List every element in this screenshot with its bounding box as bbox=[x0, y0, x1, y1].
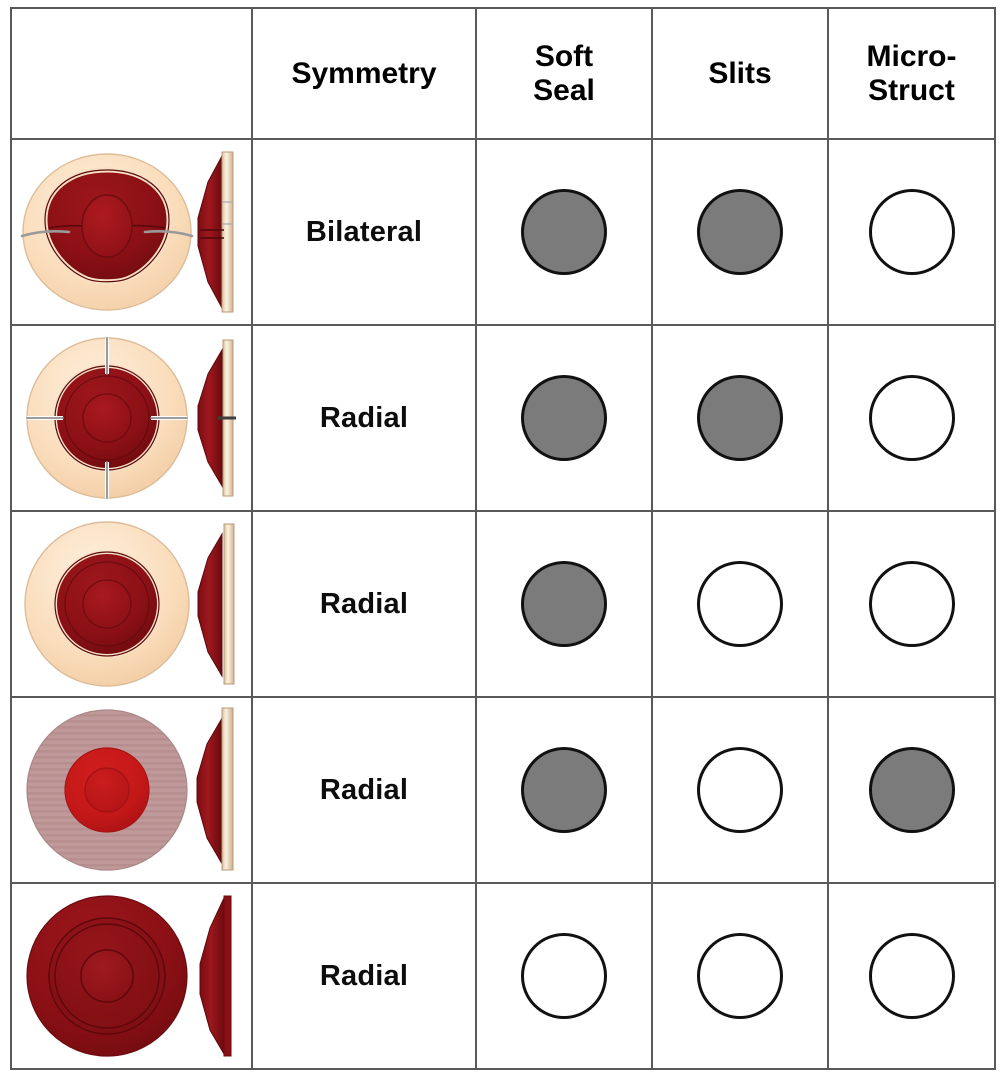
device-side-view-5 bbox=[192, 890, 240, 1062]
micro-struct-indicator-row4 bbox=[828, 697, 995, 883]
device-side-view-4 bbox=[192, 704, 240, 876]
soft-seal-indicator-row2 bbox=[476, 325, 652, 511]
micro-struct-line2: Struct bbox=[868, 74, 955, 107]
micro-struct-indicator-row3 bbox=[828, 511, 995, 697]
slits-indicator-row5 bbox=[652, 883, 828, 1069]
status-dot-filled bbox=[521, 561, 607, 647]
device-side-view-2 bbox=[192, 332, 240, 504]
device-illustration-cell-2 bbox=[11, 325, 252, 511]
status-dot-filled bbox=[869, 747, 955, 833]
table-row: Radial bbox=[11, 697, 995, 883]
slits-indicator-row1 bbox=[652, 139, 828, 325]
micro-struct-indicator-row1 bbox=[828, 139, 995, 325]
soft-seal-indicator-row1 bbox=[476, 139, 652, 325]
status-dot-empty bbox=[697, 747, 783, 833]
table-row: Radial bbox=[11, 511, 995, 697]
device-side-view-3 bbox=[192, 518, 240, 690]
device-top-view-4 bbox=[19, 702, 195, 878]
column-header-micro-struct: Micro- Struct bbox=[828, 8, 995, 139]
device-illustration-cell-1 bbox=[11, 139, 252, 325]
device-top-view-3 bbox=[19, 516, 195, 692]
slits-indicator-row3 bbox=[652, 511, 828, 697]
status-dot-filled bbox=[697, 189, 783, 275]
status-dot-empty bbox=[521, 933, 607, 1019]
slits-indicator-row4 bbox=[652, 697, 828, 883]
status-dot-empty bbox=[869, 375, 955, 461]
status-dot-empty bbox=[697, 933, 783, 1019]
feature-matrix-table: Symmetry Soft Seal Slits Micro- Struct bbox=[10, 7, 996, 1070]
soft-seal-line1: Soft bbox=[535, 40, 593, 73]
device-side-view-1 bbox=[192, 146, 240, 318]
column-header-symmetry: Symmetry bbox=[252, 8, 476, 139]
status-dot-filled bbox=[521, 747, 607, 833]
symmetry-value: Bilateral bbox=[252, 139, 476, 325]
column-header-soft-seal: Soft Seal bbox=[476, 8, 652, 139]
symmetry-value: Radial bbox=[252, 883, 476, 1069]
status-dot-empty bbox=[697, 561, 783, 647]
slits-indicator-row2 bbox=[652, 325, 828, 511]
soft-seal-indicator-row4 bbox=[476, 697, 652, 883]
status-dot-empty bbox=[869, 189, 955, 275]
table-row: Radial bbox=[11, 883, 995, 1069]
device-illustration-cell-4 bbox=[11, 697, 252, 883]
status-dot-empty bbox=[869, 561, 955, 647]
status-dot-filled bbox=[697, 375, 783, 461]
device-illustration-cell-3 bbox=[11, 511, 252, 697]
column-header-slits: Slits bbox=[652, 8, 828, 139]
device-illustration-cell-5 bbox=[11, 883, 252, 1069]
table-header-row: Symmetry Soft Seal Slits Micro- Struct bbox=[11, 8, 995, 139]
symmetry-value: Radial bbox=[252, 697, 476, 883]
symmetry-value: Radial bbox=[252, 511, 476, 697]
soft-seal-indicator-row3 bbox=[476, 511, 652, 697]
symmetry-value: Radial bbox=[252, 325, 476, 511]
status-dot-filled bbox=[521, 189, 607, 275]
device-top-view-1 bbox=[19, 144, 195, 320]
status-dot-empty bbox=[869, 933, 955, 1019]
device-top-view-5 bbox=[19, 888, 195, 1064]
micro-struct-indicator-row5 bbox=[828, 883, 995, 1069]
table-row: Radial bbox=[11, 325, 995, 511]
table-row: Bilateral bbox=[11, 139, 995, 325]
device-top-view-2 bbox=[19, 330, 195, 506]
soft-seal-indicator-row5 bbox=[476, 883, 652, 1069]
micro-struct-indicator-row2 bbox=[828, 325, 995, 511]
micro-struct-line1: Micro- bbox=[867, 40, 957, 73]
soft-seal-line2: Seal bbox=[533, 74, 595, 107]
column-header-device bbox=[11, 8, 252, 139]
comparison-matrix: Symmetry Soft Seal Slits Micro- Struct bbox=[10, 7, 994, 1068]
status-dot-filled bbox=[521, 375, 607, 461]
